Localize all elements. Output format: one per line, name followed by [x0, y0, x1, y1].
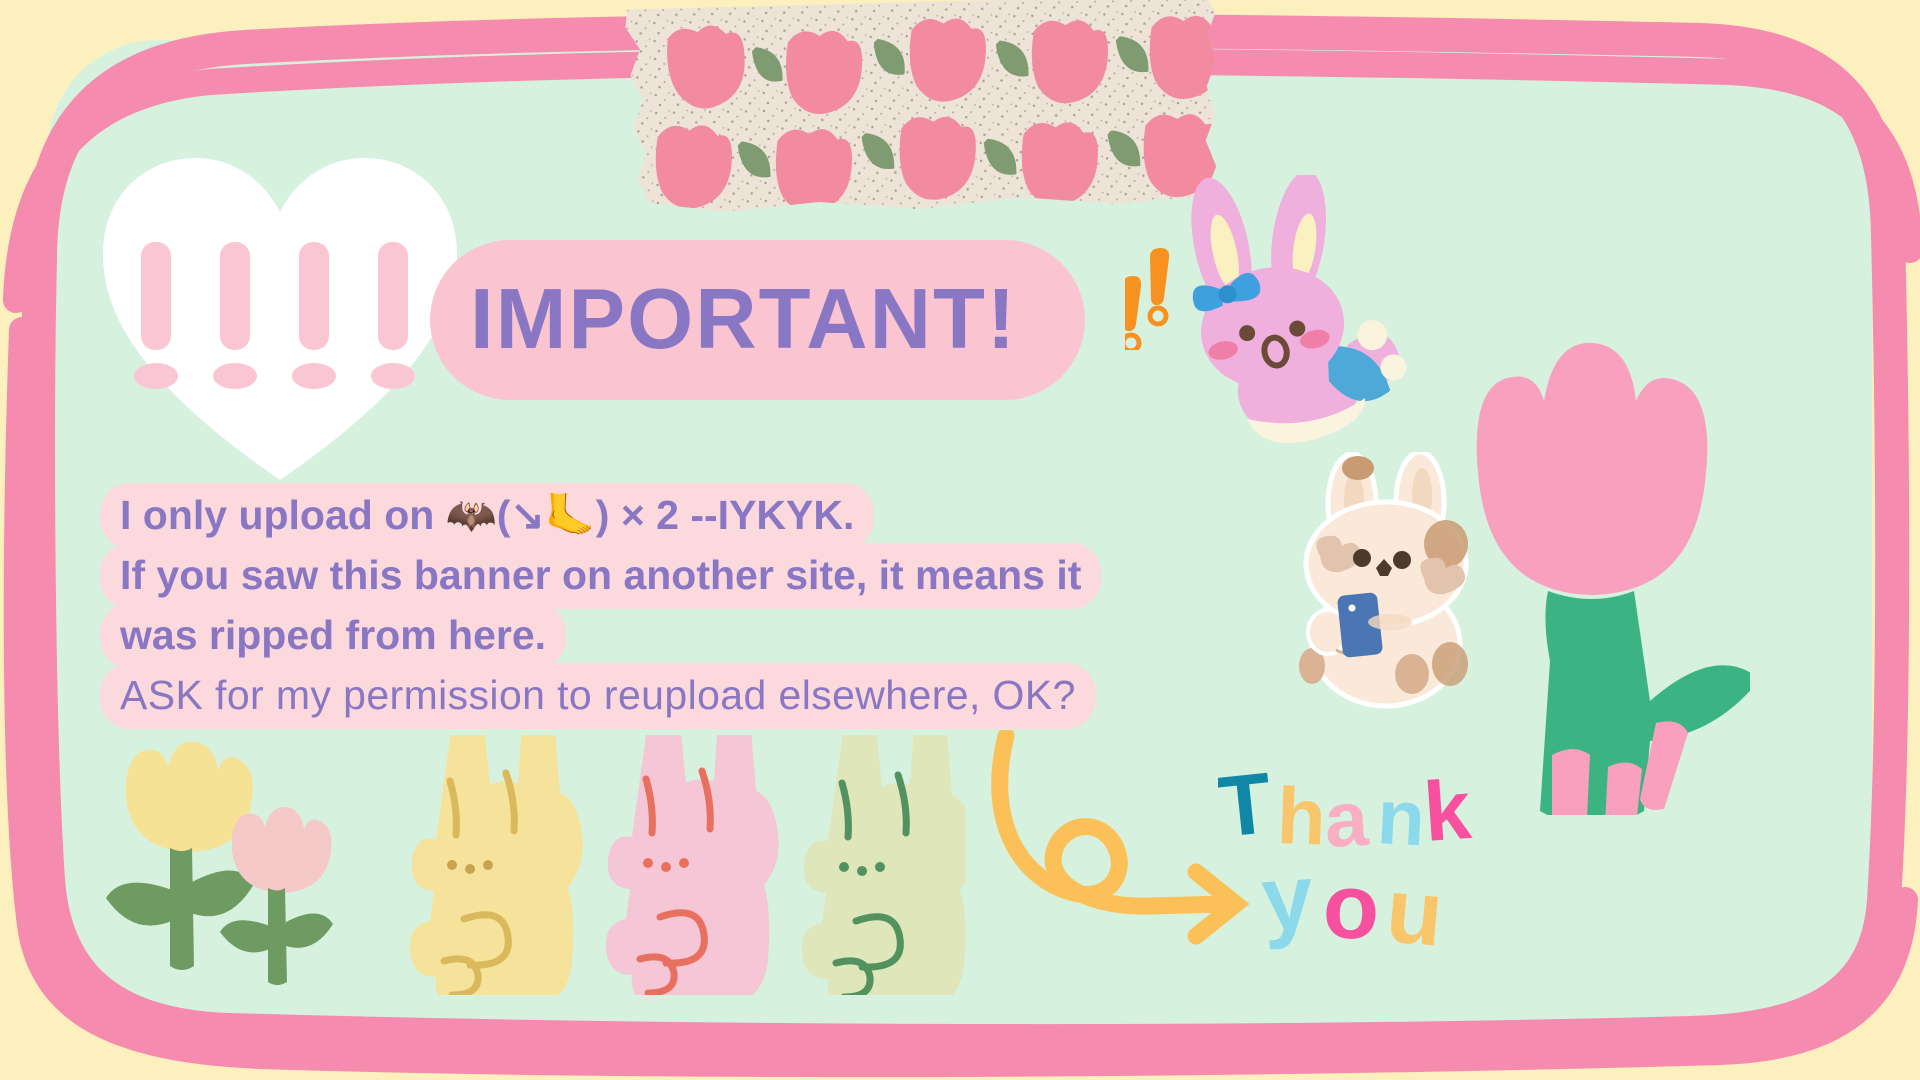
yellow-gummy-bunny — [410, 735, 583, 995]
thank-you-lettering: T h a n k y o u — [1218, 755, 1518, 950]
pink-bunny-with-blue-bow — [1135, 175, 1415, 465]
white-heart-with-exclamations — [95, 150, 465, 490]
thankyou-letter-T: T — [1218, 755, 1276, 856]
thankyou-letter-o: o — [1321, 855, 1381, 950]
message-line-4: ASK for my permission to reupload elsewh… — [100, 665, 1210, 725]
page-title: IMPORTANT! — [470, 265, 1090, 375]
thankyou-letter-a: a — [1322, 774, 1371, 864]
message-line-3: was ripped from here. — [100, 605, 1210, 665]
pink-tulip-flower — [1430, 255, 1750, 815]
thankyou-letter-y: y — [1258, 846, 1316, 950]
message-line-2: If you saw this banner on another site, … — [100, 545, 1210, 605]
thankyou-letter-n: n — [1375, 772, 1427, 862]
thankyou-letter-k: k — [1421, 762, 1474, 859]
green-gummy-bunny — [802, 735, 965, 995]
gummy-bunnies — [400, 735, 965, 995]
small-tulips — [100, 740, 360, 990]
pink-gummy-bunny — [606, 735, 779, 995]
message-block: I only upload on 🦇(↘🦶) × 2 --IYKYK. If y… — [100, 485, 1210, 725]
banner-canvas: IMPORTANT! I only upload on 🦇(↘🦶) × 2 --… — [0, 0, 1920, 1080]
thankyou-letter-u: u — [1382, 859, 1447, 950]
message-line-1: I only upload on 🦇(↘🦶) × 2 --IYKYK. — [100, 485, 1210, 545]
